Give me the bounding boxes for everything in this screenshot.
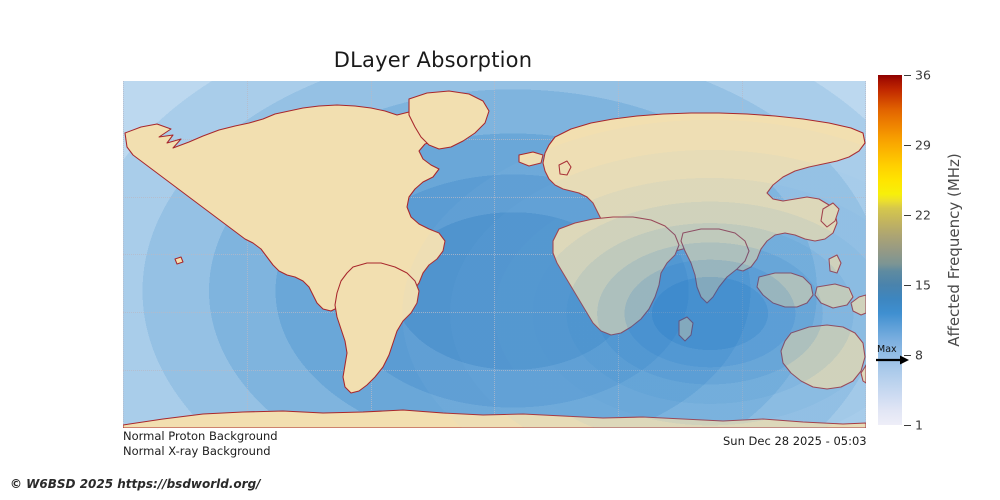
land-philippines xyxy=(829,255,841,273)
max-marker: Max xyxy=(876,345,910,367)
land-antarctica xyxy=(123,410,866,428)
colorbar-tick xyxy=(904,215,911,216)
continents xyxy=(123,91,866,428)
land-madagascar xyxy=(679,317,693,341)
figure-root: DLayer Absorption xyxy=(0,0,1000,500)
colorbar-tick-label: 36 xyxy=(915,68,931,83)
xray-background-status: Normal X-ray Background xyxy=(123,444,271,458)
page-title: DLayer Absorption xyxy=(0,48,866,72)
colorbar-tick-label: 22 xyxy=(915,208,931,223)
land-africa xyxy=(553,217,679,335)
proton-background-status: Normal Proton Background xyxy=(123,429,278,443)
copyright-notice: © W6BSD 2025 https://bsdworld.org/ xyxy=(10,477,261,491)
land-southeast-asia xyxy=(757,273,813,307)
land-australia xyxy=(781,325,865,389)
timestamp: Sun Dec 28 2025 - 05:03 xyxy=(723,434,867,448)
land-south-america xyxy=(335,263,419,393)
coastlines-layer xyxy=(123,81,866,428)
colorbar[interactable] xyxy=(878,75,902,425)
arrow-right-icon xyxy=(876,354,910,366)
land-india xyxy=(681,229,749,303)
colorbar-tick xyxy=(904,75,911,76)
colorbar-tick-label: 29 xyxy=(915,138,931,153)
colorbar-tick-label: 1 xyxy=(915,418,923,433)
colorbar-axis-label: Affected Frequency (MHz) xyxy=(945,75,969,425)
land-new-guinea xyxy=(851,295,866,315)
land-hawaii xyxy=(175,257,183,264)
land-borneo xyxy=(815,284,853,308)
colorbar-tick xyxy=(904,145,911,146)
colorbar-tick xyxy=(904,425,911,426)
colorbar-tick xyxy=(904,285,911,286)
colorbar-tick-label: 15 xyxy=(915,278,931,293)
land-iceland xyxy=(519,152,543,166)
world-map[interactable] xyxy=(123,81,866,428)
colorbar-tick-label: 8 xyxy=(915,348,923,363)
